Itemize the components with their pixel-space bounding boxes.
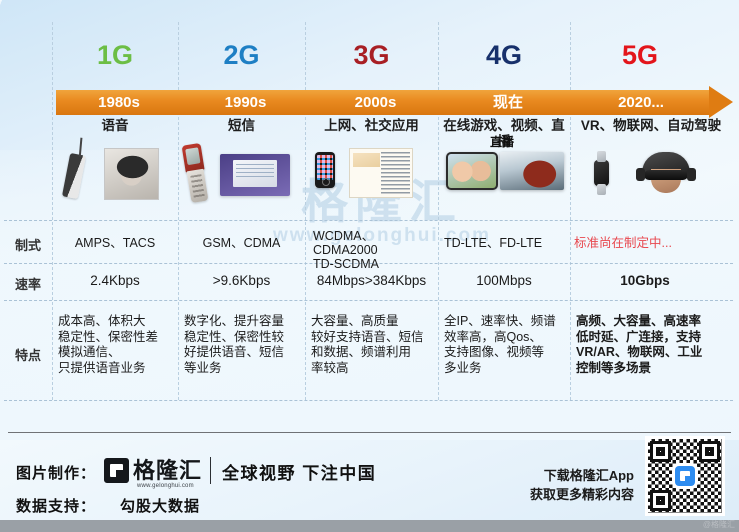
flip-phone-icon bbox=[182, 143, 210, 203]
standard-2g: GSM、CDMA bbox=[178, 236, 305, 250]
gelonghui-logo-url: www.gelonghui.com bbox=[137, 483, 194, 489]
footer-divider bbox=[8, 432, 731, 433]
row-label-rate: 速率 bbox=[4, 274, 52, 293]
infographic-root: 格隆汇 www.gelonghui.com 1G 2G 3G 4G 5G 198… bbox=[0, 0, 739, 532]
smartphone-home-button bbox=[322, 178, 330, 186]
qr-code[interactable] bbox=[645, 436, 725, 516]
zhibo-label: 直播 bbox=[490, 136, 514, 148]
smartphone-icon bbox=[315, 152, 335, 188]
features-4g: 全IP、速率快、频谱 效率高，高Qos、 支持图像、视频等 多业务 bbox=[444, 314, 572, 376]
credit-label: 图片制作： bbox=[16, 462, 96, 483]
era-label-1g: 1980s bbox=[56, 90, 182, 115]
rate-3g: 84Mbps>384Kbps bbox=[305, 273, 438, 288]
use-case-2g: 短信 bbox=[178, 118, 305, 134]
row-label-standard: 制式 bbox=[4, 235, 52, 254]
device-art-5g bbox=[570, 140, 730, 216]
features-1g: 成本高、体积大 稳定性、保密性差 模拟通信、 只提供语音业务 bbox=[58, 314, 182, 376]
standard-1g: AMPS、TACS bbox=[52, 236, 178, 250]
gelonghui-logo-text: 格隆汇 bbox=[133, 460, 202, 482]
row-label-features: 特点 bbox=[4, 345, 52, 364]
smartphone-app-grid bbox=[317, 155, 333, 180]
video-call-photo bbox=[446, 152, 498, 190]
flip-phone-screen bbox=[185, 147, 200, 165]
vintage-photo bbox=[104, 148, 159, 200]
qr-finder-bottom-left bbox=[650, 490, 671, 511]
gelonghui-logo-icon bbox=[104, 458, 129, 483]
rate-1g: 2.4Kbps bbox=[52, 273, 178, 288]
brick-phone-icon bbox=[62, 153, 86, 199]
row-rule-bottom bbox=[4, 400, 733, 401]
row-rule-top bbox=[4, 220, 733, 221]
web-portal-photo bbox=[349, 148, 413, 198]
device-art-1g bbox=[52, 140, 178, 216]
generation-label-2g: 2G bbox=[178, 38, 305, 72]
vr-side-left bbox=[636, 168, 645, 181]
era-label-2g: 1990s bbox=[182, 90, 309, 115]
era-label-5g: 2020... bbox=[574, 90, 708, 115]
rate-4g: 100Mbps bbox=[438, 273, 570, 288]
features-3g: 大容量、高质量 较好支持语音、短信 和数据、频谱利用 率较高 bbox=[311, 314, 441, 376]
era-label-3g: 2000s bbox=[309, 90, 442, 115]
use-case-5g: VR、物联网、自动驾驶 bbox=[568, 118, 734, 134]
generation-label-4g: 4G bbox=[438, 38, 570, 72]
footer-vertical-separator bbox=[210, 457, 211, 484]
qr-center-logo-icon bbox=[675, 466, 695, 486]
era-label-4g: 现在 bbox=[442, 90, 574, 115]
gelonghui-logo[interactable]: 格隆汇 www.gelonghui.com bbox=[104, 458, 202, 483]
timeline-arrow: 1980s 1990s 2000s 现在 2020... bbox=[56, 90, 733, 115]
qr-watermark: @格隆汇 bbox=[703, 519, 735, 530]
data-support-value: 勾股大数据 bbox=[120, 495, 200, 516]
use-case-1g: 语音 bbox=[52, 118, 178, 134]
standard-4g: TD-LTE、FD-LTE bbox=[444, 236, 570, 250]
qr-code-pattern bbox=[648, 439, 722, 513]
timeline-arrow-head bbox=[709, 86, 733, 118]
sms-device-screen bbox=[233, 160, 278, 187]
features-2g: 数字化、提升容量 稳定性、保密性较 好提供语音、短信 等业务 bbox=[184, 314, 308, 376]
use-case-3g: 上网、社交应用 bbox=[305, 118, 438, 134]
app-promo-text: 下载格隆汇App 获取更多精彩内容 bbox=[530, 466, 634, 504]
app-promo-line2: 获取更多精彩内容 bbox=[530, 485, 634, 504]
generation-label-3g: 3G bbox=[305, 38, 438, 72]
standard-5g: 标准尚在制定中... bbox=[574, 236, 734, 250]
app-promo-line1: 下载格隆汇App bbox=[530, 466, 634, 485]
rate-5g: 10Gbps bbox=[570, 273, 720, 288]
device-art-3g bbox=[305, 140, 438, 216]
features-5g: 高频、大容量、高速率 低时延、广连接，支持 VR/AR、物联网、工业 控制等多场… bbox=[576, 314, 734, 376]
row-rule-2 bbox=[4, 300, 733, 301]
generation-header-row: 1G 2G 3G 4G 5G bbox=[0, 38, 739, 72]
rate-2g: >9.6Kbps bbox=[178, 273, 305, 288]
generation-label-5g: 5G bbox=[570, 38, 710, 72]
vr-side-right bbox=[687, 168, 696, 181]
device-art-4g: 直播 bbox=[438, 140, 570, 216]
sms-device-photo bbox=[220, 154, 290, 196]
vr-headset-icon bbox=[638, 152, 694, 194]
data-support-label: 数据支持： bbox=[16, 495, 96, 516]
device-art-2g bbox=[178, 140, 305, 216]
qr-finder-top-left bbox=[650, 441, 671, 462]
streaming-video-photo bbox=[500, 152, 564, 190]
video-call-screen bbox=[448, 154, 496, 188]
generation-label-1g: 1G bbox=[52, 38, 178, 72]
qr-finder-top-right bbox=[699, 441, 720, 462]
vr-goggles bbox=[644, 170, 688, 180]
slogan: 全球视野 下注中国 bbox=[222, 459, 376, 484]
footer-bottom-bar bbox=[0, 520, 739, 532]
standard-3g: WCDMA、CDMA2000 TD-SCDMA bbox=[313, 229, 438, 271]
smartwatch-icon bbox=[594, 160, 609, 186]
